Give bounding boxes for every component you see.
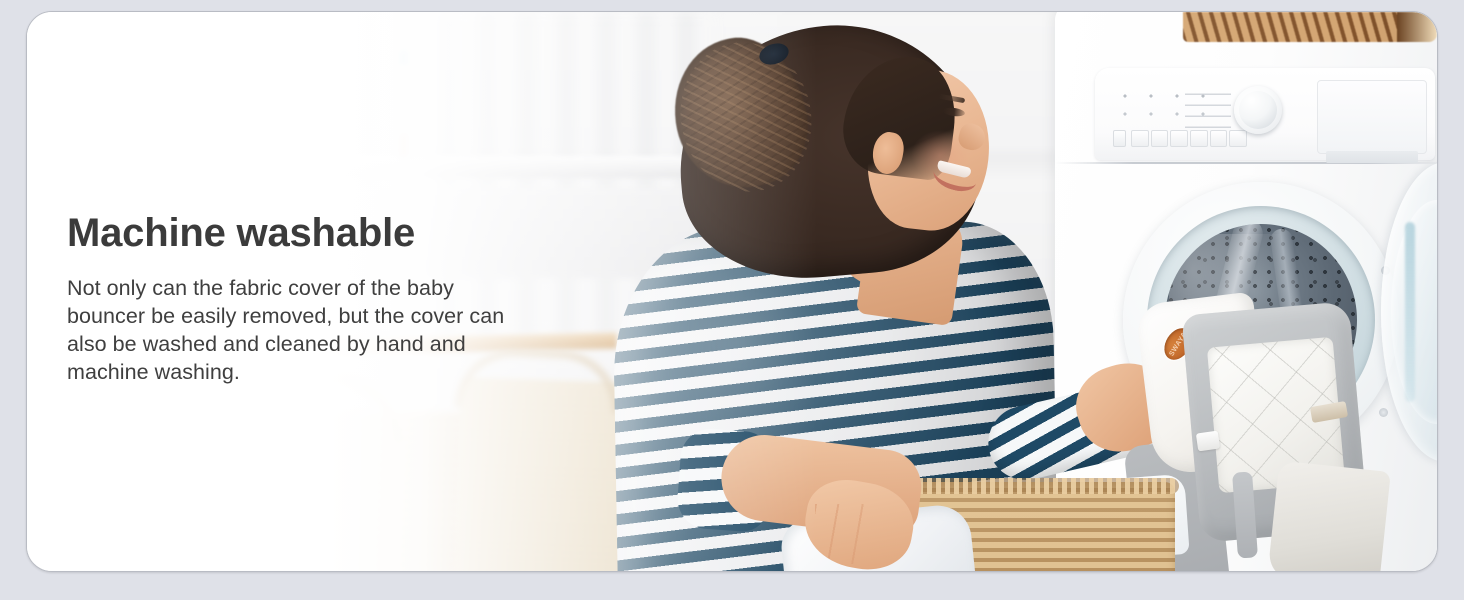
wicker-basket-on-machine [1183, 12, 1433, 42]
text-content-block: Machine washable Not only can the fabric… [67, 212, 537, 387]
bouncer-cover-buckle [1196, 431, 1220, 452]
control-panel-label-marks [1185, 84, 1231, 128]
bouncer-cover-lower-fabric [1267, 460, 1391, 571]
woman-left-fingers [815, 504, 911, 564]
feature-card: Swaya Machine washable Not on [26, 11, 1438, 572]
headline: Machine washable [67, 212, 537, 254]
panel-button [1170, 130, 1188, 147]
panel-button [1190, 130, 1208, 147]
screenshot-stage: Swaya Machine washable Not on [0, 0, 1464, 600]
door-hinge-pin [1379, 408, 1388, 417]
panel-button [1210, 130, 1228, 147]
detergent-dispenser-drawer [1317, 80, 1427, 154]
body-paragraph: Not only can the fabric cover of the bab… [67, 274, 537, 387]
program-selector-knob [1234, 86, 1282, 134]
panel-button [1229, 130, 1247, 147]
panel-button [1131, 130, 1149, 147]
panel-button [1151, 130, 1169, 147]
power-button-icon [1113, 130, 1126, 147]
control-panel-button-row [1131, 130, 1247, 147]
